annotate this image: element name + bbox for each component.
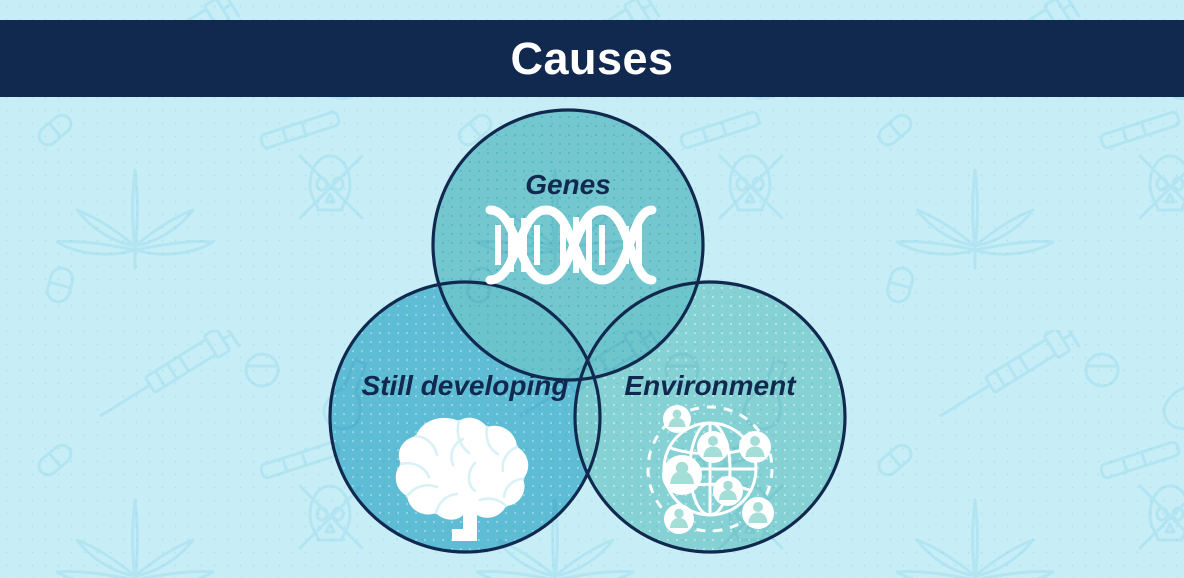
page-title: Causes xyxy=(510,36,673,81)
person-node xyxy=(664,504,694,534)
causes-infographic: Causes xyxy=(0,0,1184,578)
circle-label-still-developing: Still developing xyxy=(330,372,600,400)
globe-people-network-icon xyxy=(648,405,774,534)
person-node xyxy=(739,431,771,463)
header-bar: Causes xyxy=(0,20,1184,97)
person-node xyxy=(742,497,774,529)
person-node xyxy=(697,431,729,463)
person-node xyxy=(713,476,743,506)
circle-label-genes: Genes xyxy=(433,171,703,199)
person-node xyxy=(662,455,702,495)
venn-diagram: Genes Still developing Environment xyxy=(0,97,1184,578)
person-node xyxy=(663,405,691,433)
circle-label-environment: Environment xyxy=(575,372,845,400)
